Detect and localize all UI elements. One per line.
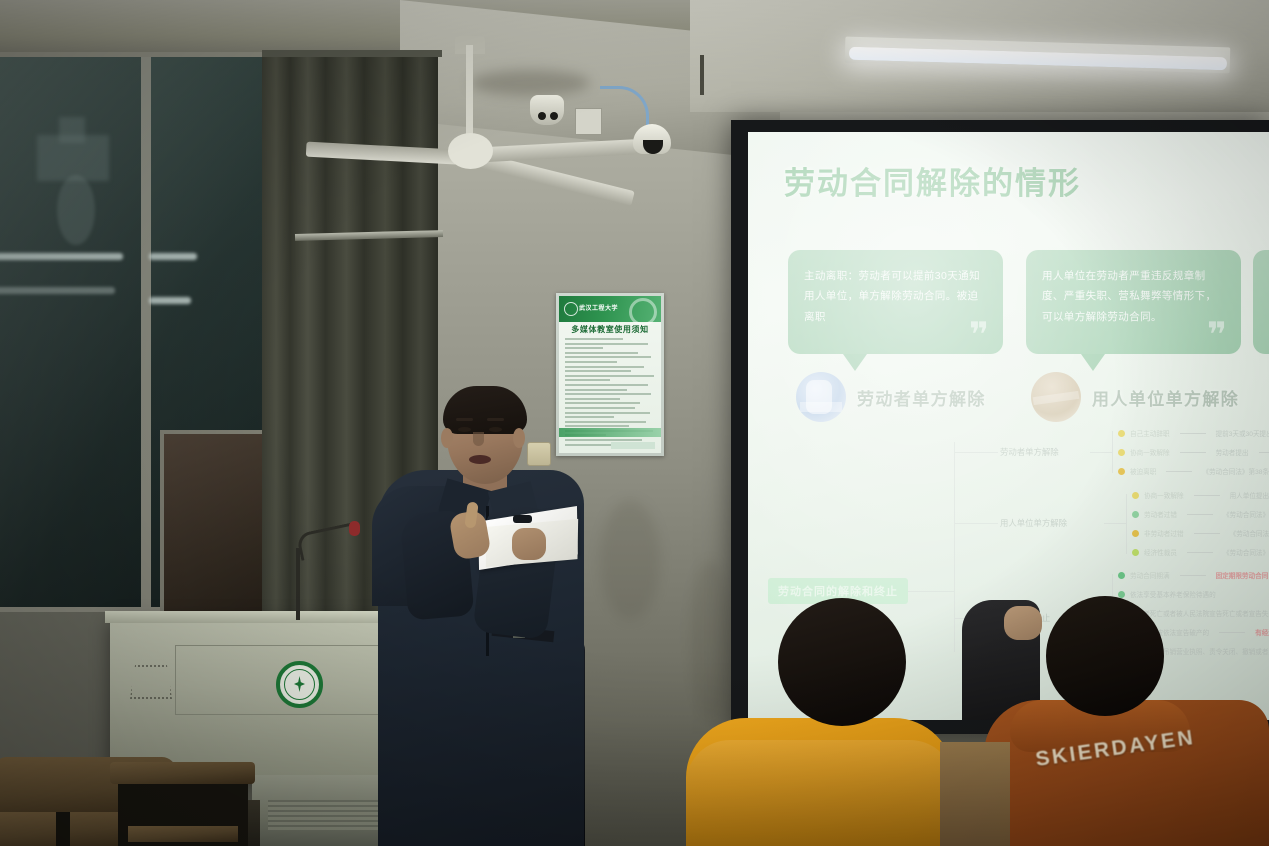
speaker-eyebrow — [456, 418, 473, 421]
poster-footer-band — [559, 428, 661, 437]
wall-notice-poster: 武汉工程大学 多媒体教室使用须知 — [556, 293, 664, 456]
speaker-wristwatch — [513, 515, 532, 523]
speech-bubble-text: 用人单位在劳动者严重违反规章制度、严重失职、营私舞弊等情形下，可以单方解除劳动合… — [1042, 266, 1227, 327]
speaker-mouth — [469, 455, 491, 464]
poster-university-name: 武汉工程大学 — [579, 303, 618, 312]
university-logo-icon — [564, 302, 578, 316]
poster-arc-decoration — [629, 298, 657, 326]
speaker-ear — [513, 428, 525, 448]
junction-box — [575, 108, 602, 135]
speaker-eyebrow — [487, 418, 504, 421]
bullet-icon — [1118, 430, 1125, 437]
microphone-stand — [296, 548, 300, 620]
speech-bubble-tail — [843, 354, 867, 371]
bullet-icon — [1132, 530, 1139, 537]
bullet-icon — [1118, 572, 1125, 579]
microphone-head-icon[interactable] — [349, 521, 360, 536]
speaker-ear — [441, 428, 453, 448]
mindmap-item: 被迫离职 《劳动合同法》第38条 有经济补偿金 — [1118, 466, 1269, 476]
classroom-scene: 劳动合同解除的情形 主动离职：劳动者可以提前30天通知用人单位，单方解除劳动合同… — [0, 0, 1269, 846]
lectern-decoration — [130, 665, 172, 699]
speech-bubble-tail — [1081, 354, 1105, 371]
speaker-hand-holding-papers — [512, 528, 546, 560]
lecture-desk-shelf — [128, 826, 238, 842]
bullet-icon — [1132, 549, 1139, 556]
node-label: 劳动者单方解除 — [857, 385, 986, 410]
slide-title: 劳动合同解除的情形 — [784, 158, 1081, 203]
mindmap-branch-label: 用人单位单方解除 — [1000, 517, 1067, 529]
student-hand — [1004, 606, 1042, 640]
wall-stain — [470, 70, 590, 96]
fan-photo-icon — [1031, 372, 1081, 422]
mindmap-item: 劳动合同期满 固定期限劳动合同，除用人单位维持或者提高 — [1118, 570, 1269, 580]
camera-lens-icon — [550, 112, 558, 120]
lecture-desk-top — [110, 762, 255, 784]
speaker-eye — [458, 427, 471, 432]
seat-leg — [56, 812, 70, 846]
student-shoulders — [686, 740, 954, 846]
node-label: 用人单位单方解除 — [1092, 385, 1239, 410]
bullet-icon — [1118, 468, 1125, 475]
mindmap-item: 自己主动辞职 提前3天或30天提出 无经济补偿金 — [1118, 428, 1269, 438]
camera-lens-icon — [538, 112, 546, 120]
speech-bubble-text: 主动离职：劳动者可以提前30天通知用人单位，单方解除劳动合同。被迫离职 — [804, 266, 989, 327]
quote-icon: ❞ — [969, 318, 989, 352]
bullet-icon — [1132, 492, 1139, 499]
speech-bubble: 主动离职：劳动者可以提前30天通知用人单位，单方解除劳动合同。被迫离职 ❞ — [788, 250, 1003, 354]
bullet-camera-icon — [530, 95, 564, 125]
bullet-icon — [1118, 591, 1125, 598]
curtain-rod — [262, 50, 442, 57]
poster-title: 多媒体教室使用须知 — [559, 324, 661, 335]
wall-stain — [600, 500, 660, 620]
node-worker-unilateral: 劳动者单方解除 — [796, 372, 986, 422]
bullet-icon — [1118, 449, 1125, 456]
speech-bubble — [1253, 250, 1269, 354]
mindmap-item: 劳动者过错 《劳动合同法》第39条 无经济补偿金 — [1132, 509, 1269, 519]
person-photo-icon — [796, 372, 846, 422]
mindmap-item: 协商一致解除 用人单位提出 有经济补偿金 — [1132, 490, 1269, 500]
mindmap-branch-label: 劳动者单方解除 — [1000, 446, 1059, 458]
node-employer-unilateral: 用人单位单方解除 — [1031, 372, 1239, 422]
mindmap-item: 协商一致解除 劳动者提出 无经济补偿金 — [1118, 447, 1269, 457]
speaker-hair — [443, 386, 527, 434]
classroom-desk — [940, 742, 1010, 846]
bullet-icon — [1132, 511, 1139, 518]
speaker-eye — [489, 427, 502, 432]
wall-power-socket[interactable] — [527, 442, 551, 466]
quote-icon: ❞ — [1207, 318, 1227, 352]
poster-header: 武汉工程大学 — [559, 296, 661, 322]
student-head — [778, 598, 906, 726]
mindmap-item: 非劳动者过错 《劳动合同法》第40条 有经济补偿金 — [1132, 528, 1269, 538]
fan-hub — [448, 133, 493, 169]
wall-stain — [690, 560, 730, 720]
speech-bubble: 用人单位在劳动者严重违反规章制度、严重失职、营私舞弊等情形下，可以单方解除劳动合… — [1026, 250, 1241, 354]
fan-rod — [466, 45, 473, 140]
speaker-nose — [473, 432, 484, 446]
wall-hook — [700, 55, 704, 95]
poster-stamp — [611, 442, 655, 449]
mindmap-item: 经济性裁员 《劳动合同法》第41条 有经济补偿金 — [1132, 547, 1269, 557]
mindmap-item: 依法享受基本养老保险待遇的 — [1118, 589, 1216, 599]
student-head — [1046, 596, 1164, 716]
